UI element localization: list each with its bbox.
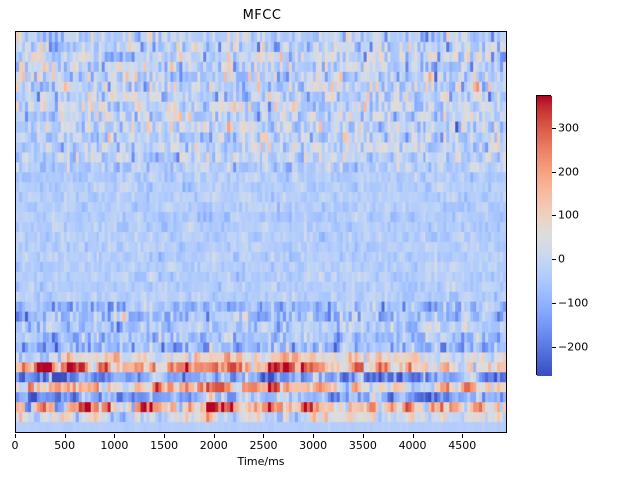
colorbar-tick-label: −200	[558, 341, 588, 352]
colorbar-tick-label: 100	[558, 210, 579, 221]
colorbar-tick-label: 300	[558, 122, 579, 133]
x-tick-mark	[114, 434, 115, 438]
x-tick-mark	[263, 434, 264, 438]
x-tick-mark	[15, 434, 16, 438]
colorbar-tick-mark	[552, 259, 556, 260]
x-tick-mark	[313, 434, 314, 438]
x-tick-label: 4500	[432, 439, 492, 452]
x-tick-mark	[413, 434, 414, 438]
mfcc-heatmap[interactable]	[16, 32, 506, 432]
x-tick-mark	[214, 434, 215, 438]
colorbar-tick-mark	[552, 215, 556, 216]
colorbar-gradient	[537, 96, 552, 376]
colorbar-tick-mark	[552, 172, 556, 173]
colorbar-tick-label: 0	[558, 254, 565, 265]
x-tick-mark	[363, 434, 364, 438]
colorbar-tick-mark	[552, 347, 556, 348]
x-axis-label: Time/ms	[15, 455, 507, 468]
x-tick-mark	[65, 434, 66, 438]
colorbar-tick-mark	[552, 303, 556, 304]
x-tick-mark	[462, 434, 463, 438]
colorbar-tick-mark	[552, 128, 556, 129]
heatmap-axes[interactable]	[15, 31, 507, 433]
colorbar-tick-label: 200	[558, 166, 579, 177]
colorbar[interactable]	[536, 95, 551, 375]
colorbar-tick-label: −100	[558, 297, 588, 308]
x-tick-mark	[164, 434, 165, 438]
figure-canvas: MFCC 05001000150020002500300035004000450…	[0, 0, 640, 480]
page-title: MFCC	[0, 8, 524, 23]
